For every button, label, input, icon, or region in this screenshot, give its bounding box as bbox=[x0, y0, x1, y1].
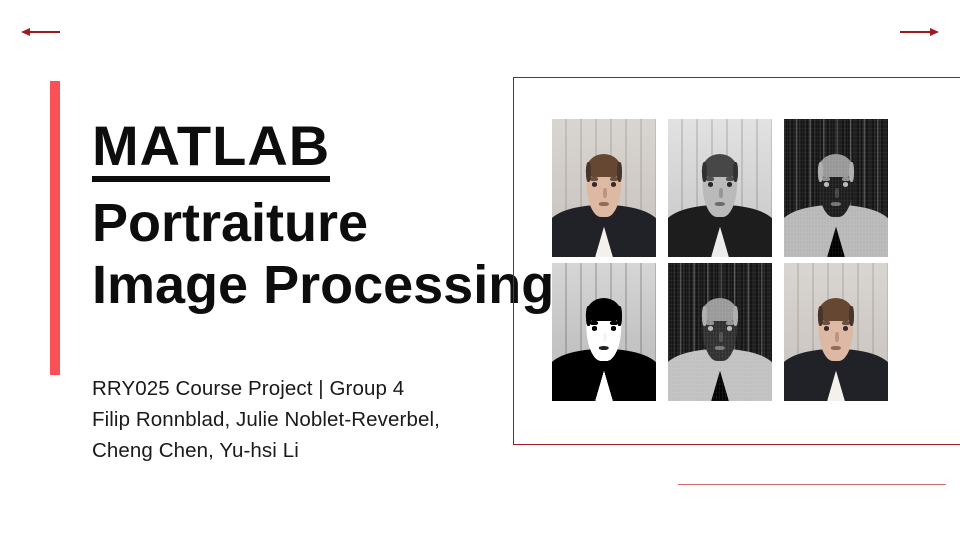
subtitle-course-line: RRY025 Course Project | Group 4 bbox=[92, 373, 512, 404]
portrait-subject bbox=[668, 119, 772, 257]
photo-grayscale bbox=[668, 119, 772, 257]
title-slide: MATLAB Portraiture Image Processing RRY0… bbox=[0, 0, 960, 540]
photo-grid bbox=[552, 119, 888, 401]
portrait-subject bbox=[784, 263, 888, 401]
subtitle-authors-line-2: Cheng Chen, Yu-hsi Li bbox=[92, 435, 512, 466]
portrait-subject bbox=[784, 119, 888, 257]
portrait-subject bbox=[552, 263, 656, 401]
photo-original-color bbox=[552, 119, 656, 257]
subtitle: RRY025 Course Project | Group 4 Filip Ro… bbox=[92, 373, 512, 466]
title-line-image-processing: Image Processing bbox=[92, 258, 522, 312]
title-line-matlab: MATLAB bbox=[92, 118, 330, 182]
subtitle-authors-line-1: Filip Ronnblad, Julie Noblet-Reverbel, bbox=[92, 404, 512, 435]
page-title: MATLAB Portraiture Image Processing bbox=[92, 118, 522, 312]
photo-retouched-color bbox=[784, 263, 888, 401]
photo-edge-detection-alt bbox=[668, 263, 772, 401]
photo-threshold-bw bbox=[552, 263, 656, 401]
portrait-subject bbox=[552, 119, 656, 257]
bottom-rule bbox=[678, 484, 946, 485]
left-accent-bar bbox=[50, 81, 60, 375]
title-line-portraiture: Portraiture bbox=[92, 196, 522, 250]
portrait-subject bbox=[668, 263, 772, 401]
arrow-right-icon bbox=[899, 24, 939, 40]
photo-edge-detection bbox=[784, 119, 888, 257]
arrow-left-icon bbox=[21, 24, 61, 40]
